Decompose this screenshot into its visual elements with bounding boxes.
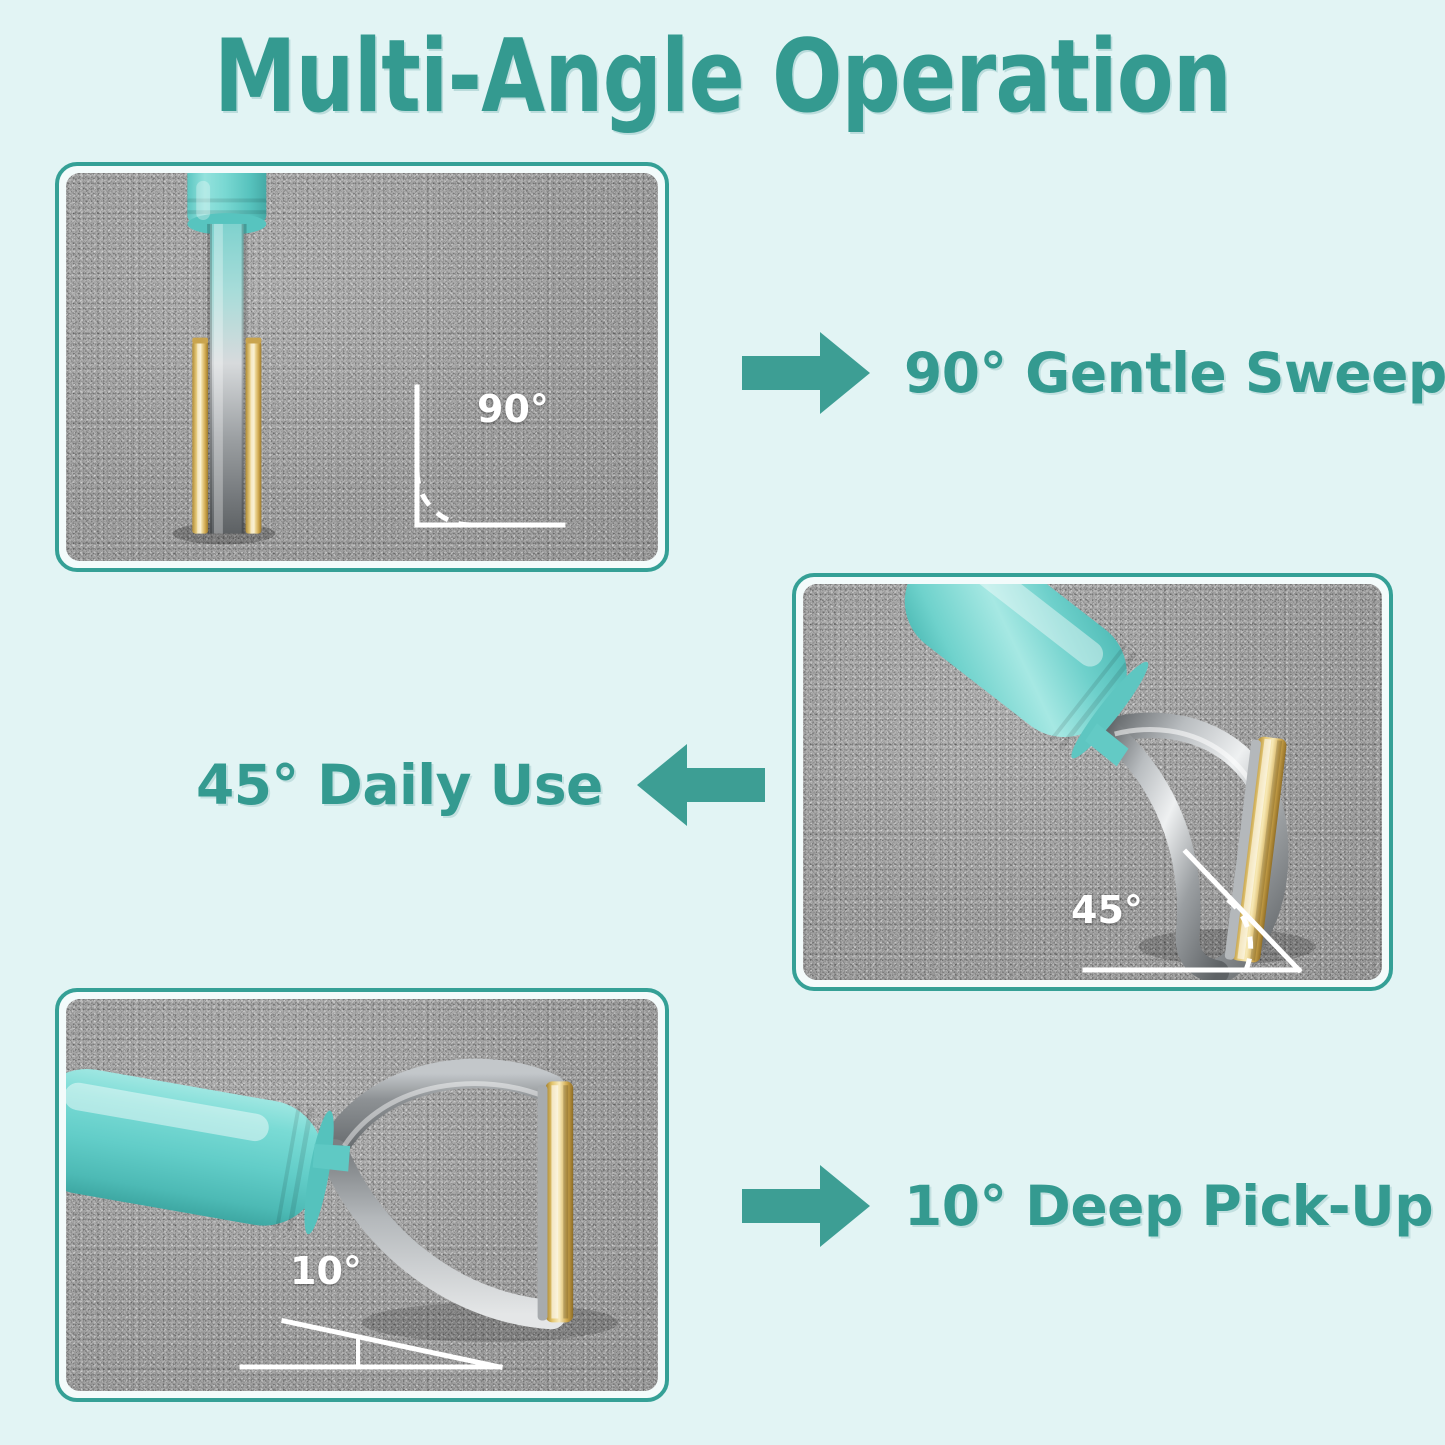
- arrow-right-icon: [742, 330, 870, 416]
- callout-label-90: 90° Gentle Sweep: [904, 341, 1445, 405]
- arrow-left-icon: [637, 742, 765, 828]
- panel-photo-90: 90°: [66, 173, 658, 561]
- tool-illustration-90-degree: [66, 173, 658, 561]
- callout-45-degree: 45° Daily Use: [196, 742, 765, 828]
- tool-illustration-45-degree: [803, 584, 1382, 980]
- panel-photo-10: 10°: [66, 999, 658, 1391]
- infographic-canvas: Multi-Angle Operation: [0, 0, 1445, 1445]
- tool-illustration-10-degree: [66, 999, 658, 1391]
- callout-90-degree: 90° Gentle Sweep: [742, 330, 1445, 416]
- callout-label-45: 45° Daily Use: [196, 753, 603, 817]
- callout-10-degree: 10° Deep Pick-Up: [742, 1163, 1433, 1249]
- page-title: Multi-Angle Operation: [130, 22, 1315, 131]
- arrow-right-icon: [742, 1163, 870, 1249]
- photo-panel-90-degree: 90°: [55, 162, 669, 572]
- callout-label-10: 10° Deep Pick-Up: [904, 1174, 1433, 1238]
- photo-panel-10-degree: 10°: [55, 988, 669, 1402]
- panel-photo-45: 45°: [803, 584, 1382, 980]
- photo-panel-45-degree: 45°: [792, 573, 1393, 991]
